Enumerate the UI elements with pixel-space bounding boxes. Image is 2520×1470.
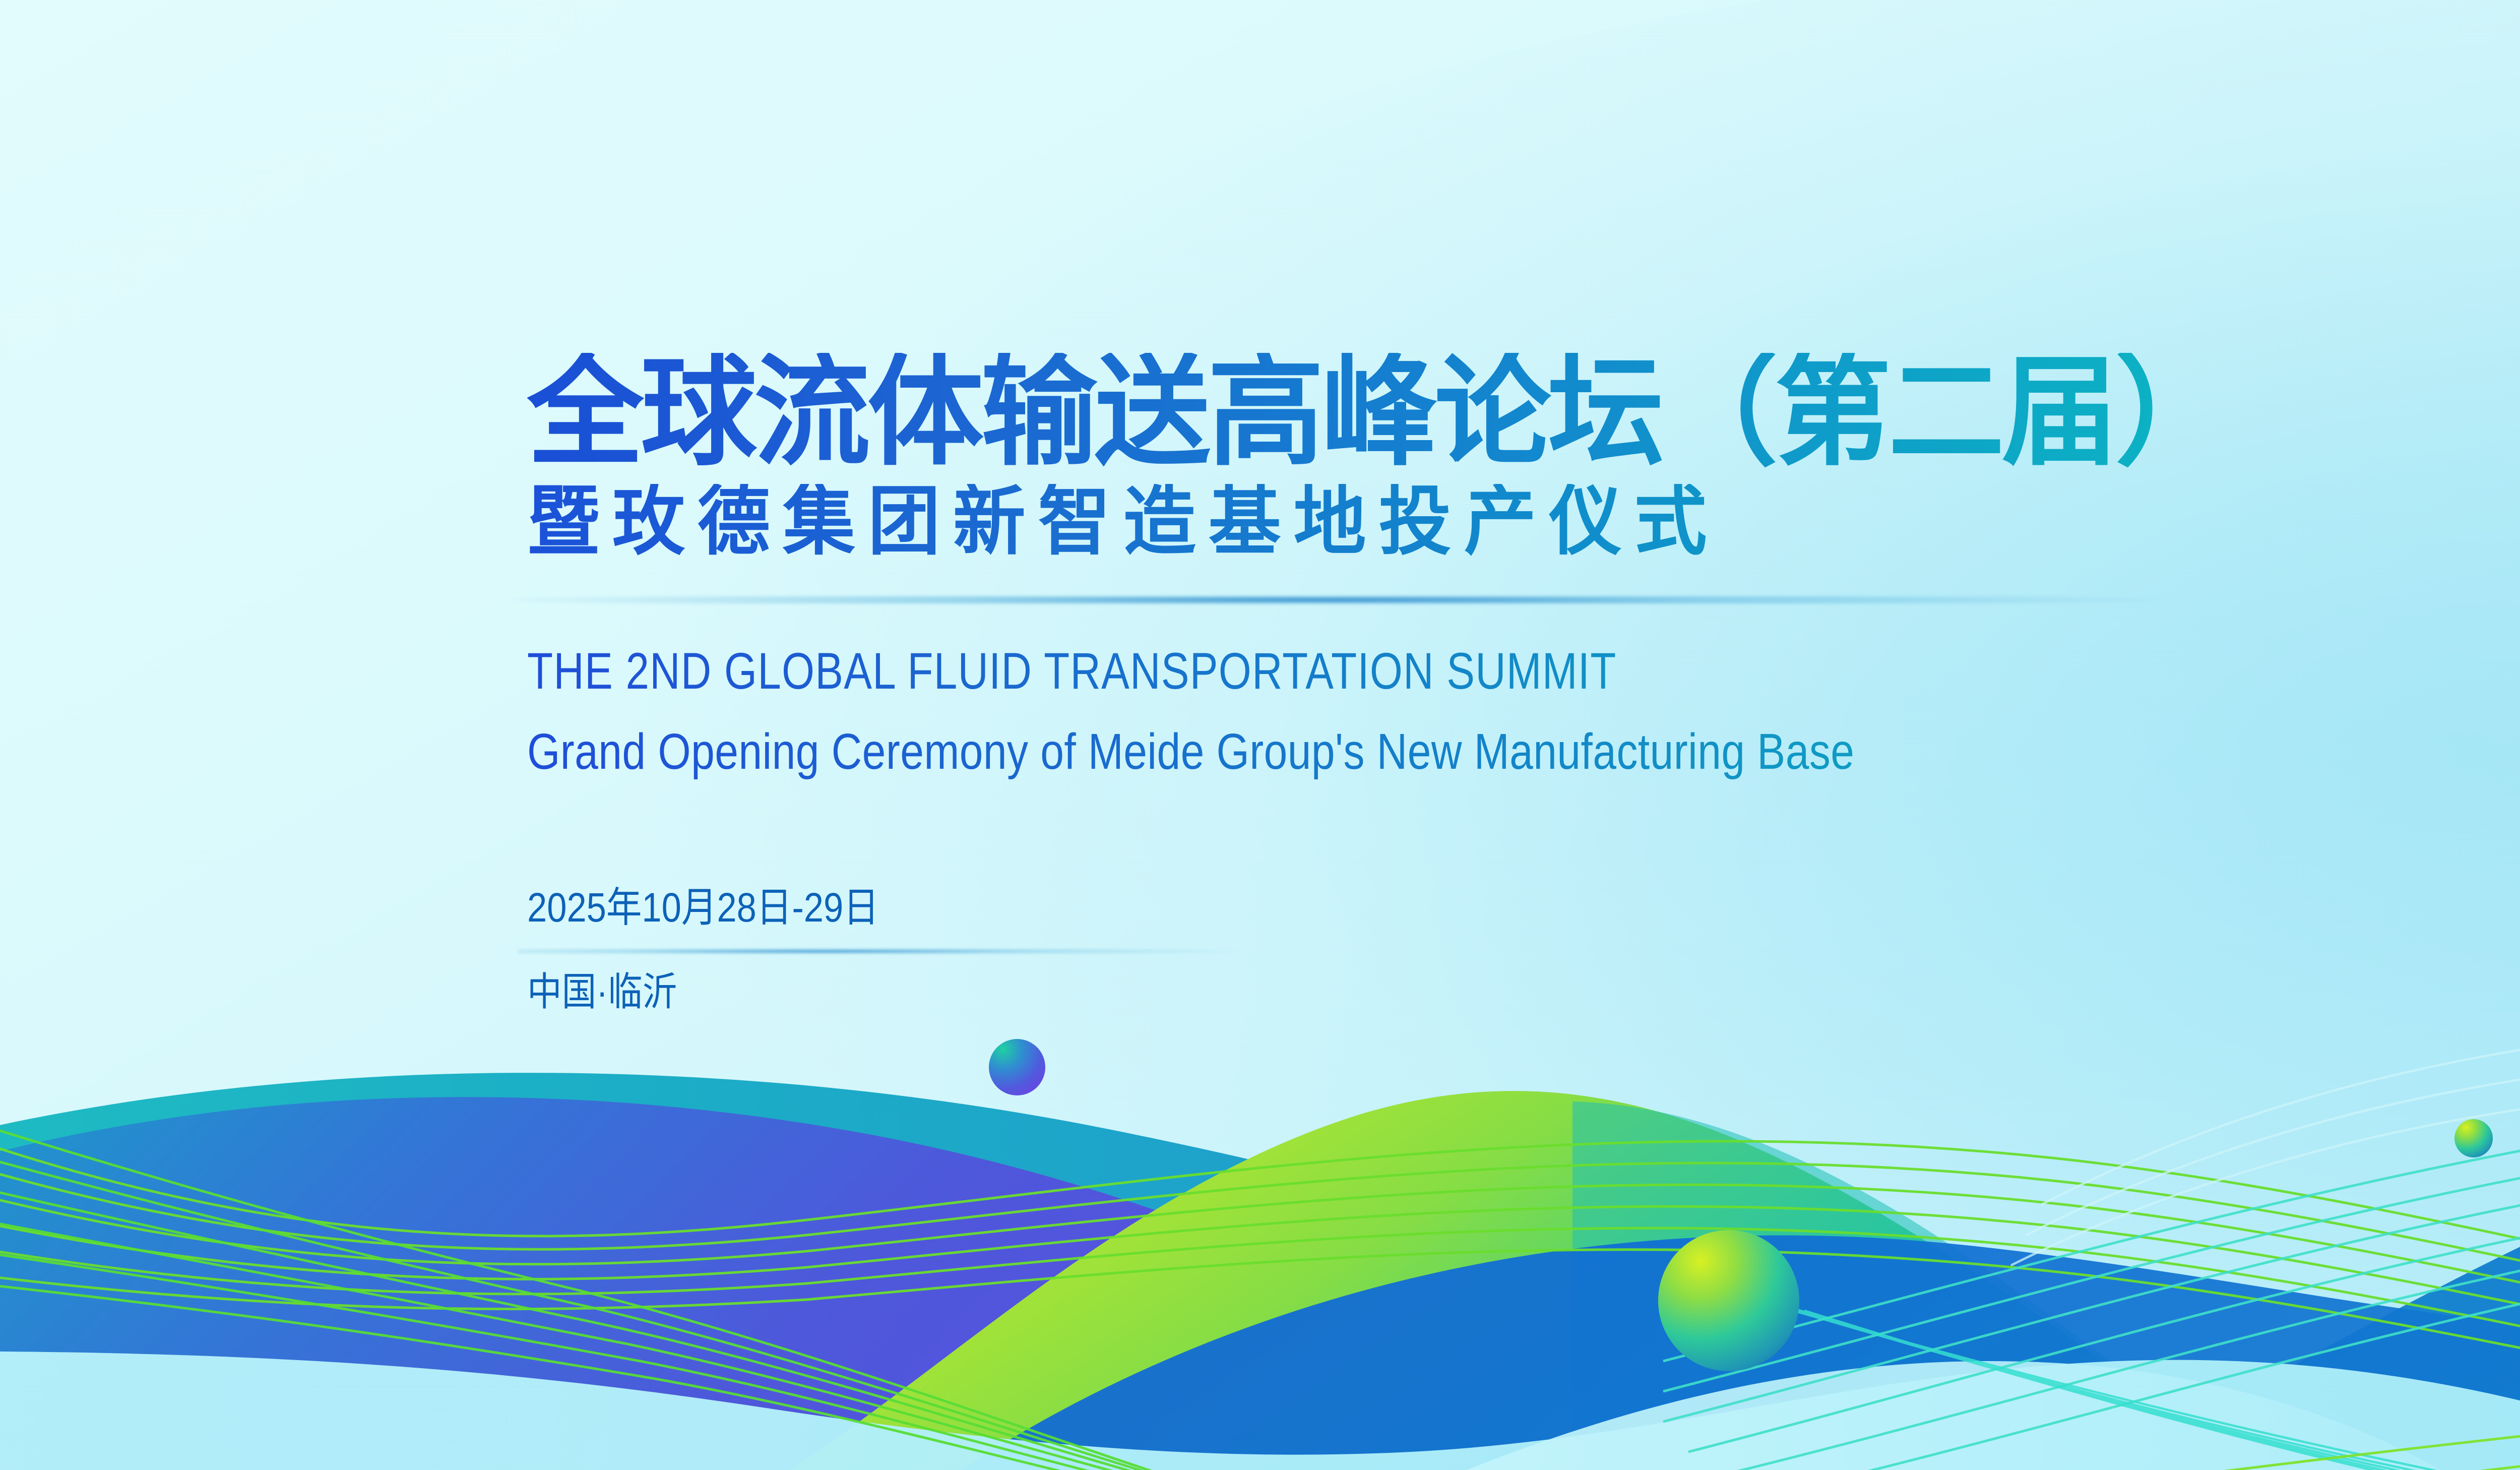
page-title-english-main: THE 2ND GLOBAL FLUID TRANSPORTATION SUMM… — [527, 643, 2346, 699]
sphere-green-small — [2454, 1119, 2493, 1157]
event-meta: 2025年10月28日-29日 中国·临沂 — [527, 887, 2520, 1011]
sphere-purple-small — [989, 1039, 1045, 1095]
event-banner: 全球流体输送高峰论坛（第二届） 暨玫德集团新智造基地投产仪式 THE 2ND G… — [0, 0, 2520, 1470]
page-subtitle-english: Grand Opening Ceremony of Meide Group's … — [527, 724, 2390, 779]
event-date: 2025年10月28日-29日 — [527, 887, 2434, 929]
banner-text-block: 全球流体输送高峰论坛（第二届） 暨玫德集团新智造基地投产仪式 THE 2ND G… — [527, 353, 2520, 1011]
page-subtitle-chinese: 暨玫德集团新智造基地投产仪式 — [527, 484, 2520, 560]
sphere-green-large — [1658, 1230, 1799, 1371]
meta-divider — [518, 949, 1284, 954]
title-divider — [512, 596, 2216, 604]
event-location: 中国·临沂 — [527, 972, 2479, 1011]
page-title-chinese-main: 全球流体输送高峰论坛（第二届） — [527, 353, 2520, 473]
